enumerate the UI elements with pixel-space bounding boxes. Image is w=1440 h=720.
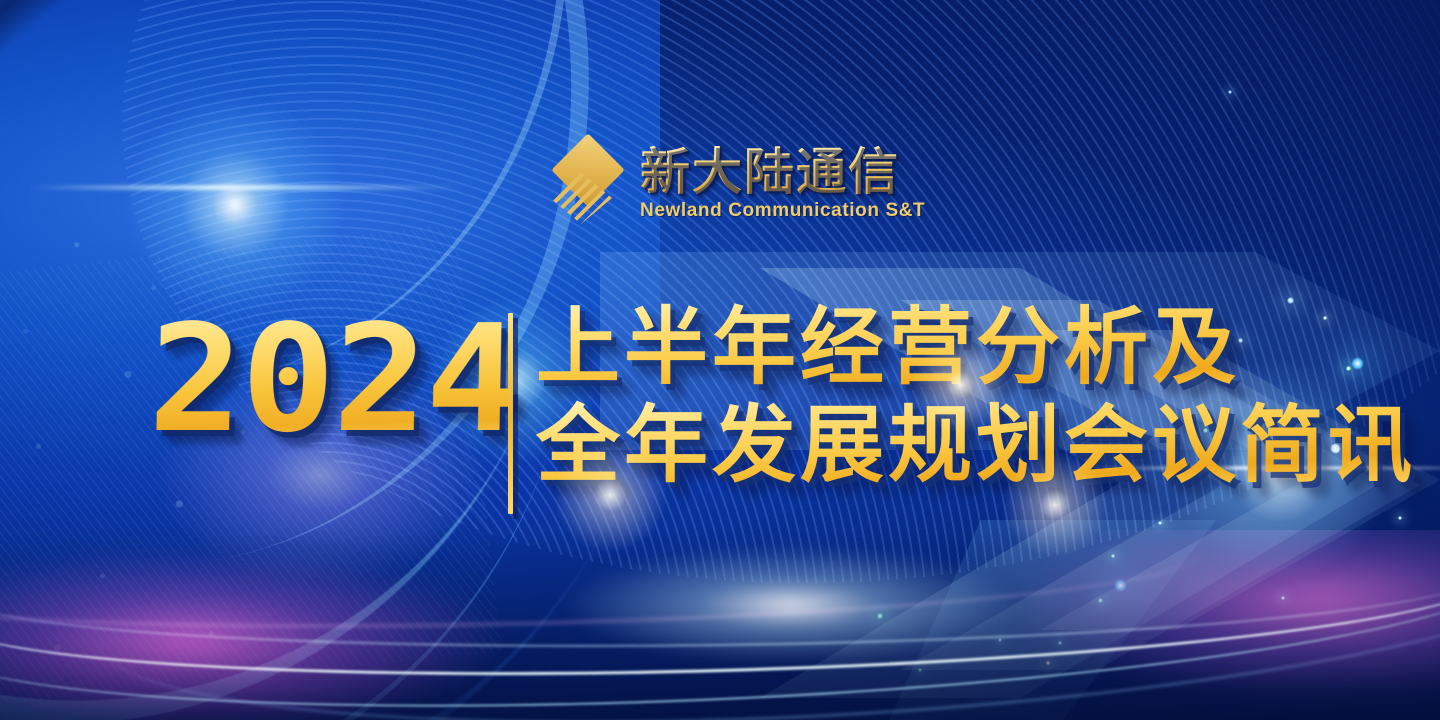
bottom-light-wave-band [0,530,1440,720]
top-left-flare-streak [30,185,460,190]
bottom-dark-gradient [0,530,1440,720]
light-wave-3 [0,530,1440,657]
title-line-2: 全年发展规划会议简讯 [536,398,1416,492]
logo-english-name: Newland Communication S&T [640,200,925,222]
company-logo: 新大陆通信 Newland Communication S&T [548,142,925,226]
newland-diamond-logo-mark [548,142,626,226]
pink-glow-right [1010,530,1440,695]
bokeh-dot [1098,598,1103,603]
logo-chinese-name: 新大陆通信 [640,146,925,199]
banner-title: 上半年经营分析及 全年发展规划会议简讯 [536,300,1416,492]
chevron-bottom-left [880,520,1440,720]
light-wave-2 [0,530,1440,720]
bokeh-dot [877,613,883,619]
bokeh-dot [1058,641,1062,645]
gold-vertical-divider [508,313,513,514]
bokeh-dot [1398,516,1402,520]
bokeh-dot [918,668,922,672]
bokeh-dot [1228,90,1232,94]
bokeh-dot [1114,579,1127,592]
bokeh-dot [1046,661,1050,665]
light-wave-4 [94,530,1440,720]
bokeh-dot [1111,554,1115,558]
title-line-1: 上半年经营分析及 [536,300,1416,394]
white-glow-center [560,545,1020,665]
bokeh-dot [1158,521,1162,525]
light-wave-5 [0,530,1201,640]
year-text: 2024 [147,305,519,453]
event-banner: 新大陆通信 Newland Communication S&T 2024 上半年… [0,0,1440,720]
top-left-flare [120,90,350,320]
logo-text-block: 新大陆通信 Newland Communication S&T [640,146,925,223]
bokeh-dot [1281,596,1285,600]
light-wave-1 [0,530,1440,694]
bokeh-dot [998,638,1002,642]
pink-glow-left [0,550,500,720]
